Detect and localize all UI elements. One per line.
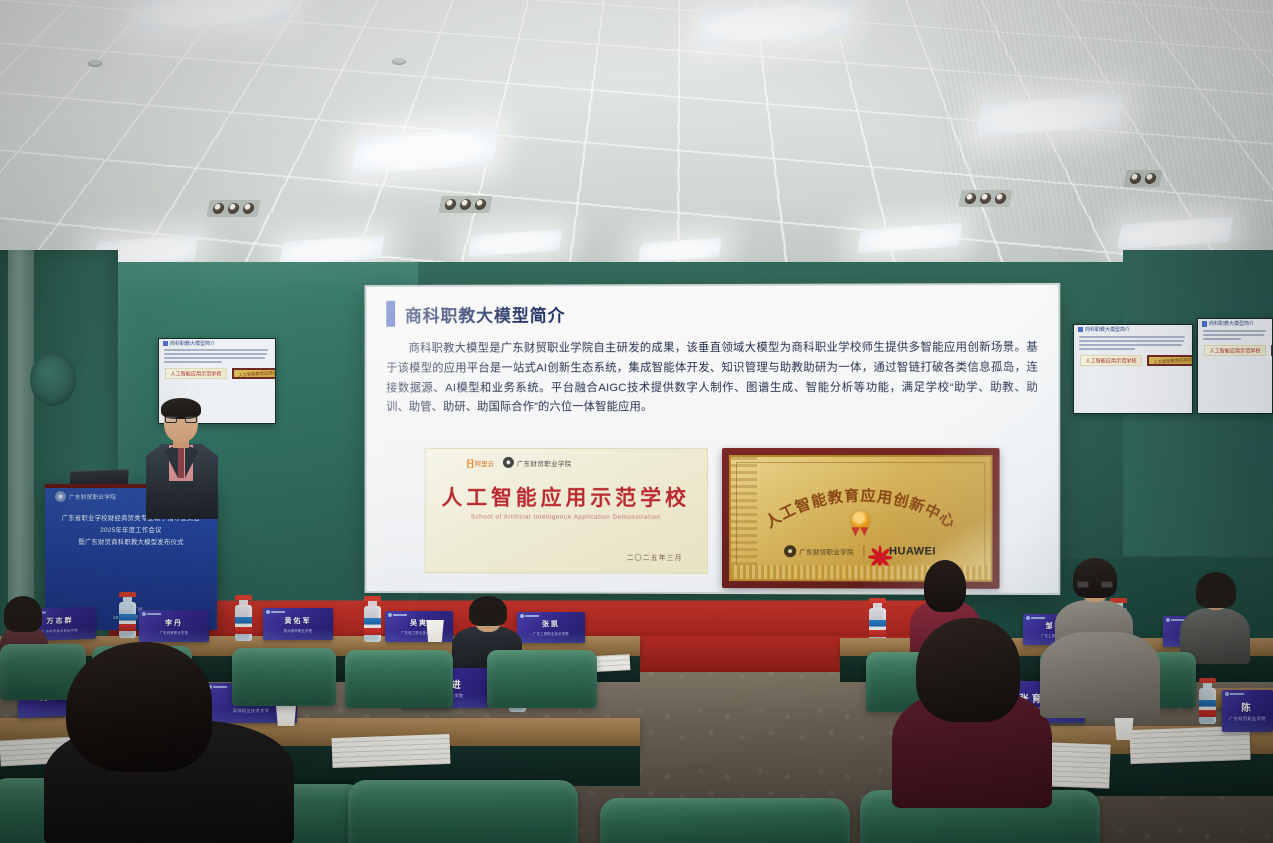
speaker-tie	[178, 448, 184, 478]
chair-foreground	[348, 780, 578, 843]
nameplate-name: 李丹	[165, 618, 183, 628]
nameplate-name: 黄佑军	[285, 616, 312, 626]
side-monitor-right-2-images: 人工智能应用示范学校 人工智能教育应用创新中心	[1198, 342, 1272, 359]
side-monitor-right-2-title: 商科职教大模型简介	[1209, 320, 1254, 327]
nameplate-name: 万志群	[47, 615, 74, 626]
side-monitor-right-1-images: 人工智能应用示范学校 人工智能教育应用创新中心	[1074, 352, 1192, 369]
person-hair	[66, 642, 212, 772]
side-cert-plaque-title: 人工智能教育应用创新中心	[1153, 356, 1193, 365]
podium-line-2: 2025年年度工作会议	[45, 525, 217, 537]
person-hair	[469, 596, 507, 626]
huawei-wordmark: HUAWEI	[889, 545, 936, 557]
audience-person-back-right-3	[1180, 572, 1250, 662]
water-bottle-icon	[1199, 678, 1216, 724]
slide-title: 商科职教大模型简介	[405, 301, 565, 326]
certificate-paper-title: 人工智能应用示范学校	[425, 482, 706, 512]
slide-accent-bar-icon	[386, 301, 395, 327]
person-hair	[924, 560, 966, 612]
paper-cup-icon	[425, 620, 445, 642]
nameplate-logo-icon	[266, 610, 285, 614]
nameplate-org: 广东科贸职业学院	[160, 630, 189, 635]
wall-round-vent-icon	[30, 352, 76, 406]
alibaba-cloud-logo-icon: [-] 阿里云	[467, 457, 494, 467]
side-monitor-right-1-titlebar: 商科职教大模型简介	[1074, 325, 1192, 334]
slide-accent-bar-icon	[1202, 321, 1207, 327]
nameplate-name: 陈	[1241, 700, 1254, 714]
ceiling-spotlight-icon	[438, 196, 492, 213]
water-bottle-icon	[364, 596, 381, 642]
nameplate-logo-icon	[1225, 692, 1244, 696]
slide-body-text: 商科职教大模型是广东财贸职业学院自主研发的成果，该垂直领域大模型为商科职业学校师…	[386, 338, 1038, 418]
nameplate-logo-icon	[388, 613, 407, 617]
water-bottle-icon	[119, 592, 136, 638]
chair-foreground	[600, 798, 850, 843]
side-monitor-right-1: 商科职教大模型简介 人工智能应用示范学校 人工智能教育应用创新中心	[1073, 324, 1193, 414]
audience-person-foreground-far-right	[1040, 560, 1160, 710]
school-seal-icon: 广东财贸职业学院	[503, 457, 572, 468]
certificate-paper: [-] 阿里云 广东财贸职业学院 人工智能应用示范学校 School of Ar…	[424, 448, 707, 574]
certificate-plaque-school: 广东财贸职业学院	[799, 546, 854, 556]
paper-cup-icon	[1113, 716, 1135, 740]
ceiling-spotlight-icon	[1123, 170, 1162, 187]
nameplate-name: 吴爽	[410, 618, 428, 628]
side-cert-paper-title: 人工智能应用示范学校	[1210, 347, 1261, 355]
smoke-detector-icon	[392, 58, 406, 65]
certificate-paper-school: 广东财贸职业学院	[517, 457, 572, 467]
chair	[345, 650, 453, 708]
side-monitor-left-text	[159, 347, 275, 365]
ceiling-spotlight-icon	[958, 190, 1012, 207]
chair	[487, 650, 597, 708]
side-cert-paper: 人工智能应用示范学校	[1204, 345, 1266, 356]
nameplate-logo-icon	[142, 612, 161, 616]
side-cert-paper-title: 人工智能应用示范学校	[171, 370, 222, 378]
side-cert-paper: 人工智能应用示范学校	[1080, 355, 1142, 366]
certificate-paper-subtitle: School of Artificial Intelligence Applic…	[425, 514, 706, 521]
certificate-paper-logos: [-] 阿里云 广东财贸职业学院	[425, 449, 706, 468]
podium-school-name: 广东财贸职业学院	[69, 493, 116, 501]
nameplate-logo-icon	[520, 614, 539, 618]
nameplate-3: 黄佑军 惠州城市职业学院	[263, 608, 333, 640]
audience-person-foreground-center	[22, 642, 292, 842]
audience-person-foreground-right	[886, 618, 1056, 808]
side-monitor-right-2-text	[1198, 328, 1272, 342]
water-bottle-icon	[235, 595, 252, 641]
certificate-plaque-footer: 广东财贸职业学院 HUAWEI	[731, 545, 990, 558]
alibaba-cloud-label: 阿里云	[475, 457, 494, 467]
side-cert-plaque: 人工智能教育应用创新中心	[232, 368, 276, 379]
medal-ribbon-icon	[847, 511, 873, 536]
side-monitor-left-images: 人工智能应用示范学校 人工智能教育应用创新中心	[159, 365, 275, 382]
slide-accent-bar-icon	[1078, 327, 1083, 332]
smoke-detector-icon	[88, 60, 102, 67]
side-monitor-left-titlebar: 商科职教大模型简介	[159, 339, 275, 347]
person-hair	[4, 596, 42, 632]
slide-header: 商科职教大模型简介	[386, 299, 1038, 327]
side-monitor-right-2-titlebar: 商科职教大模型简介	[1198, 319, 1272, 328]
person-hair	[1196, 572, 1236, 608]
certificate-paper-date: 二〇二五年三月	[627, 553, 683, 563]
nameplate-org: 广东工贸职业技术学院	[533, 631, 569, 636]
side-monitor-right-1-title: 商科职教大模型简介	[1085, 326, 1130, 333]
nameplate-5: 张凯 广东工贸职业技术学院	[517, 612, 585, 643]
nameplate-org: 广东财贸职业学院	[1229, 716, 1266, 722]
slide-accent-bar-icon	[163, 341, 168, 346]
school-seal-icon: 广东财贸职业学院	[784, 545, 854, 557]
handout-paper	[332, 734, 451, 768]
nameplate-2: 李丹 广东科贸职业学院	[139, 610, 209, 642]
ceiling	[0, 0, 1273, 300]
huawei-logo: HUAWEI	[873, 545, 936, 557]
nameplate-12: 陈 广东财贸职业学院	[1222, 690, 1273, 732]
podium-line-3: 暨广东财贸商科职教大模型发布仪式	[45, 537, 217, 549]
person-hair	[916, 618, 1020, 722]
person-torso	[1040, 632, 1160, 718]
nameplate-name: 张凯	[542, 619, 560, 629]
side-cert-paper: 人工智能应用示范学校	[165, 368, 227, 379]
side-cert-paper-title: 人工智能应用示范学校	[1086, 356, 1137, 364]
ceiling-spotlight-icon	[206, 200, 260, 217]
slide-canvas: 商科职教大模型简介 商科职教大模型是广东财贸职业学院自主研发的成果，该垂直领域大…	[367, 285, 1059, 593]
nameplate-org: 惠州城市职业学院	[284, 628, 313, 633]
divider	[863, 545, 864, 557]
side-cert-plaque: 人工智能教育应用创新中心	[1147, 355, 1193, 366]
side-monitor-right-1-text	[1074, 334, 1192, 352]
speaker-presenter	[140, 400, 224, 515]
side-cert-plaque-title: 人工智能教育应用创新中心	[238, 369, 276, 378]
glasses-icon	[165, 415, 197, 423]
projection-screen: 商科职教大模型简介 商科职教大模型是广东财贸职业学院自主研发的成果，该垂直领域大…	[367, 285, 1059, 593]
side-monitor-left-title: 商科职教大模型简介	[170, 340, 215, 347]
side-monitor-right-2: 商科职教大模型简介 人工智能应用示范学校 人工智能教育应用创新中心	[1197, 318, 1273, 414]
conference-hall-scene: 商科职教大模型简介 人工智能应用示范学校 人工智能教育应用创新中心 商科职教大模…	[0, 0, 1273, 843]
huawei-flower-icon	[873, 545, 886, 557]
